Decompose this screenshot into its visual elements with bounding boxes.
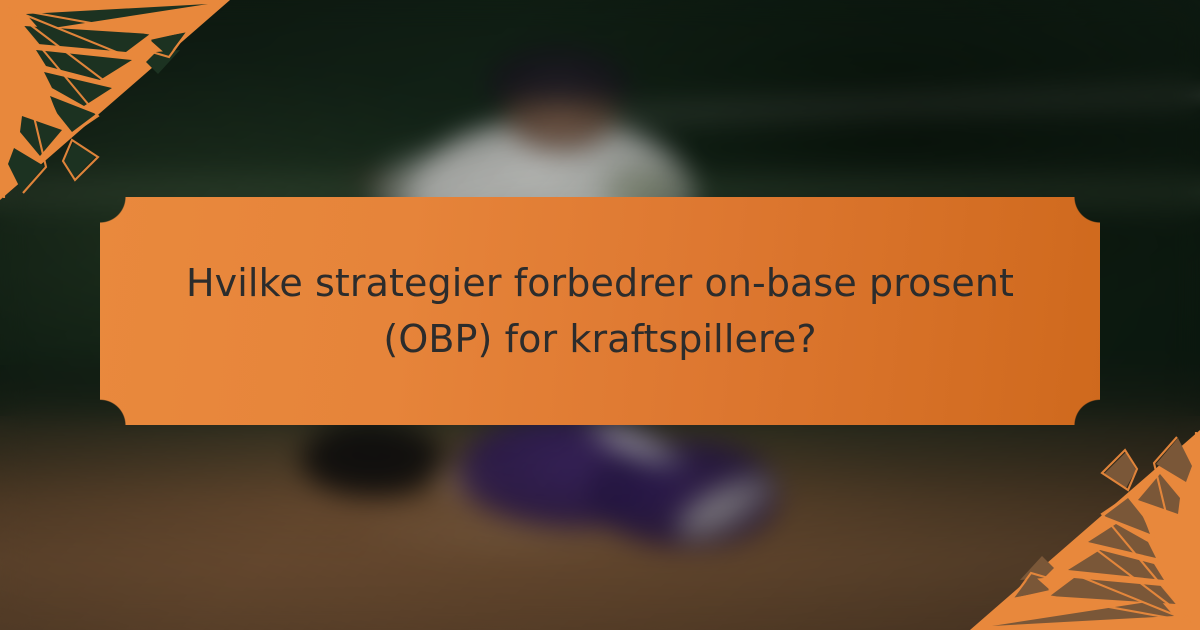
headline-banner: Hvilke strategier forbedrer on-base pros… bbox=[100, 197, 1100, 425]
social-card: Hvilke strategier forbedrer on-base pros… bbox=[0, 0, 1200, 630]
headline-text: Hvilke strategier forbedrer on-base pros… bbox=[170, 255, 1030, 367]
